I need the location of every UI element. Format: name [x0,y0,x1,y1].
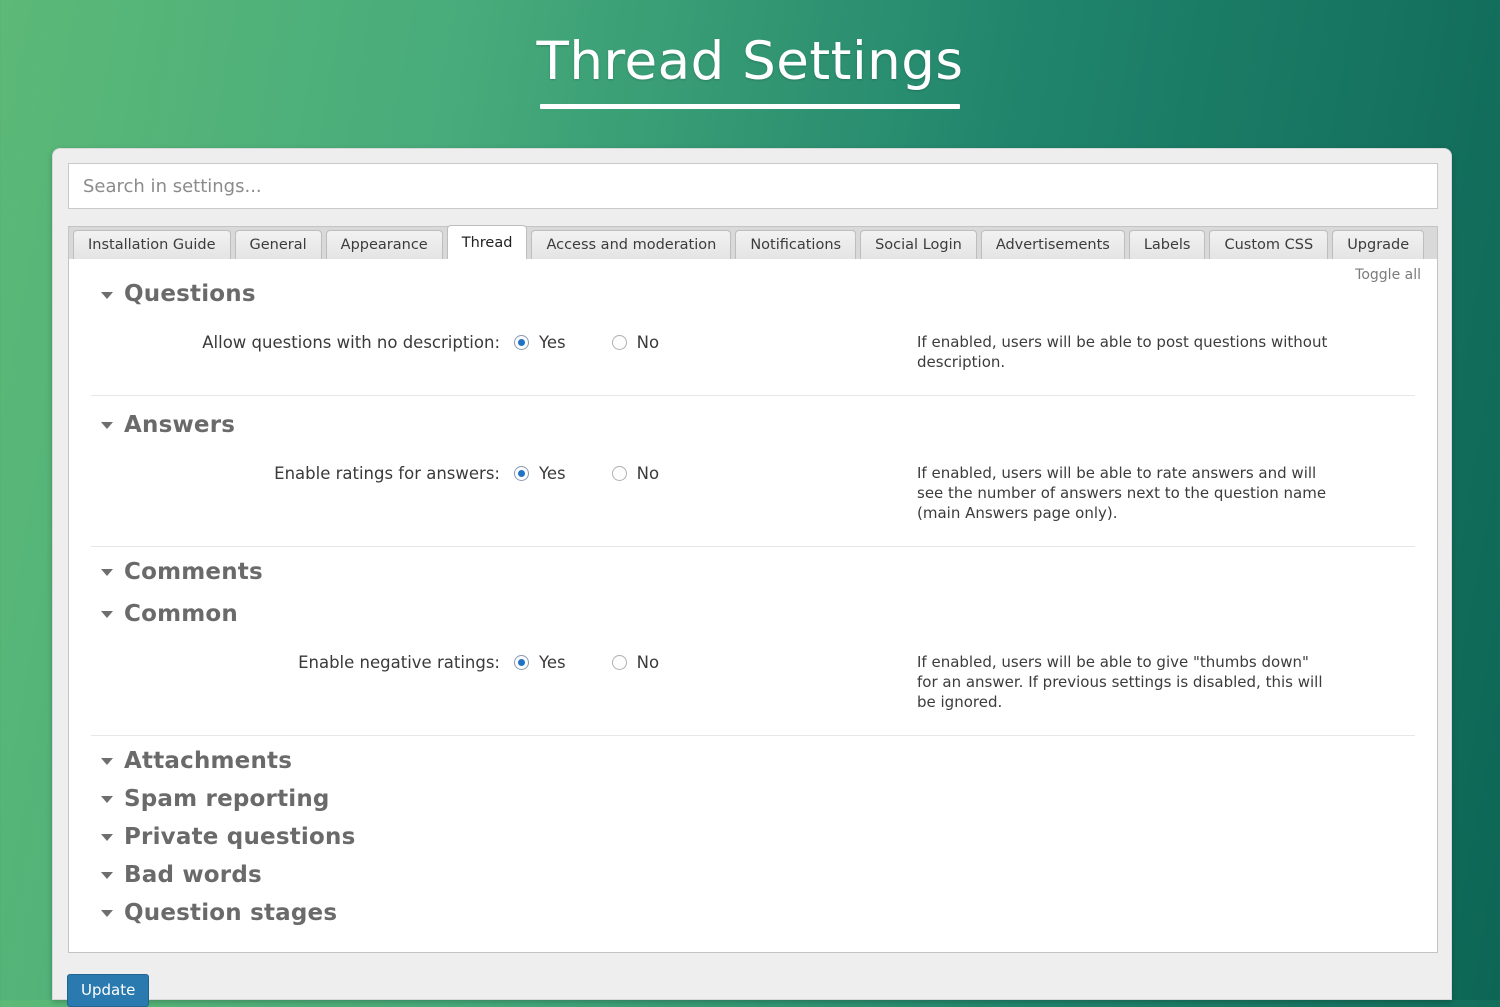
tab-label: General [250,237,307,253]
radio-group: YesNo [511,653,911,672]
radio-option-no[interactable]: No [612,333,659,352]
section-title: Attachments [124,748,292,774]
page-header: Thread Settings [0,0,1500,140]
setting-row: Enable ratings for answers:YesNoIf enabl… [91,438,1415,547]
section-header-spam-reporting[interactable]: Spam reporting [91,786,1415,812]
section-header-comments[interactable]: Comments [91,559,1415,585]
tab-appearance[interactable]: Appearance [326,230,443,259]
section-title: Question stages [124,900,337,926]
radio-label: No [637,464,659,483]
radio-button-yes[interactable] [514,466,529,481]
caret-down-icon [101,292,113,299]
settings-panel: Installation GuideGeneralAppearanceThrea… [52,148,1452,1000]
radio-group: YesNo [511,464,911,483]
settings-section: Comments [91,547,1415,585]
settings-section: AnswersEnable ratings for answers:YesNoI… [91,396,1415,547]
section-header-questions[interactable]: Questions [91,281,1415,307]
tab-label: Advertisements [996,237,1110,253]
setting-label: Enable ratings for answers: [91,464,511,483]
settings-section: Bad words [91,850,1415,888]
tab-notifications[interactable]: Notifications [735,230,856,259]
section-title: Questions [124,281,256,307]
toggle-all-link[interactable]: Toggle all [1355,267,1421,283]
settings-section: QuestionsAllow questions with no descrip… [91,259,1415,396]
tab-upgrade[interactable]: Upgrade [1332,230,1424,259]
section-header-bad-words[interactable]: Bad words [91,862,1415,888]
section-header-common[interactable]: Common [91,601,1415,627]
section-title: Answers [124,412,235,438]
section-title: Private questions [124,824,355,850]
radio-button-no[interactable] [612,655,627,670]
sections-list: QuestionsAllow questions with no descrip… [91,259,1415,926]
caret-down-icon [101,569,113,576]
radio-button-no[interactable] [612,466,627,481]
caret-down-icon [101,834,113,841]
settings-section: Question stages [91,888,1415,926]
caret-down-icon [101,422,113,429]
tab-label: Upgrade [1347,237,1409,253]
search-input[interactable] [68,163,1438,209]
tab-label: Access and moderation [546,237,716,253]
setting-label: Enable negative ratings: [91,653,511,672]
tab-label: Social Login [875,237,962,253]
title-underline [540,104,960,109]
radio-option-no[interactable]: No [612,653,659,672]
radio-option-yes[interactable]: Yes [514,464,566,483]
radio-label: Yes [539,464,566,483]
settings-section: Private questions [91,812,1415,850]
caret-down-icon [101,796,113,803]
tab-thread[interactable]: Thread [447,225,528,259]
setting-label: Allow questions with no description: [91,333,511,352]
tabs-bar: Installation GuideGeneralAppearanceThrea… [68,226,1438,259]
radio-label: Yes [539,333,566,352]
tab-custom-css[interactable]: Custom CSS [1209,230,1328,259]
radio-label: Yes [539,653,566,672]
setting-description: If enabled, users will be able to give "… [911,653,1331,713]
section-header-question-stages[interactable]: Question stages [91,900,1415,926]
tab-installation-guide[interactable]: Installation Guide [73,230,231,259]
section-title: Common [124,601,238,627]
tab-labels[interactable]: Labels [1129,230,1206,259]
tab-general[interactable]: General [235,230,322,259]
tab-label: Installation Guide [88,237,216,253]
settings-section: Spam reporting [91,774,1415,812]
tab-advertisements[interactable]: Advertisements [981,230,1125,259]
caret-down-icon [101,872,113,879]
caret-down-icon [101,910,113,917]
setting-description: If enabled, users will be able to post q… [911,333,1331,373]
section-title: Comments [124,559,263,585]
tab-access-and-moderation[interactable]: Access and moderation [531,230,731,259]
setting-row: Allow questions with no description:YesN… [91,307,1415,396]
radio-button-yes[interactable] [514,335,529,350]
tab-label: Thread [462,235,513,251]
radio-label: No [637,653,659,672]
settings-content: Toggle all QuestionsAllow questions with… [68,259,1438,953]
tab-label: Labels [1144,237,1191,253]
radio-option-yes[interactable]: Yes [514,653,566,672]
tab-label: Appearance [341,237,428,253]
radio-button-no[interactable] [612,335,627,350]
settings-section: Attachments [91,736,1415,774]
caret-down-icon [101,611,113,618]
tab-social-login[interactable]: Social Login [860,230,977,259]
section-header-answers[interactable]: Answers [91,412,1415,438]
section-title: Bad words [124,862,262,888]
section-header-attachments[interactable]: Attachments [91,748,1415,774]
setting-row: Enable negative ratings:YesNoIf enabled,… [91,627,1415,736]
radio-option-yes[interactable]: Yes [514,333,566,352]
radio-group: YesNo [511,333,911,352]
tab-label: Notifications [750,237,841,253]
radio-label: No [637,333,659,352]
radio-option-no[interactable]: No [612,464,659,483]
section-header-private-questions[interactable]: Private questions [91,824,1415,850]
tab-label: Custom CSS [1224,237,1313,253]
radio-button-yes[interactable] [514,655,529,670]
settings-section: CommonEnable negative ratings:YesNoIf en… [91,585,1415,736]
page-title: Thread Settings [536,34,963,90]
setting-description: If enabled, users will be able to rate a… [911,464,1331,524]
section-title: Spam reporting [124,786,330,812]
update-button[interactable]: Update [67,974,149,1007]
caret-down-icon [101,758,113,765]
